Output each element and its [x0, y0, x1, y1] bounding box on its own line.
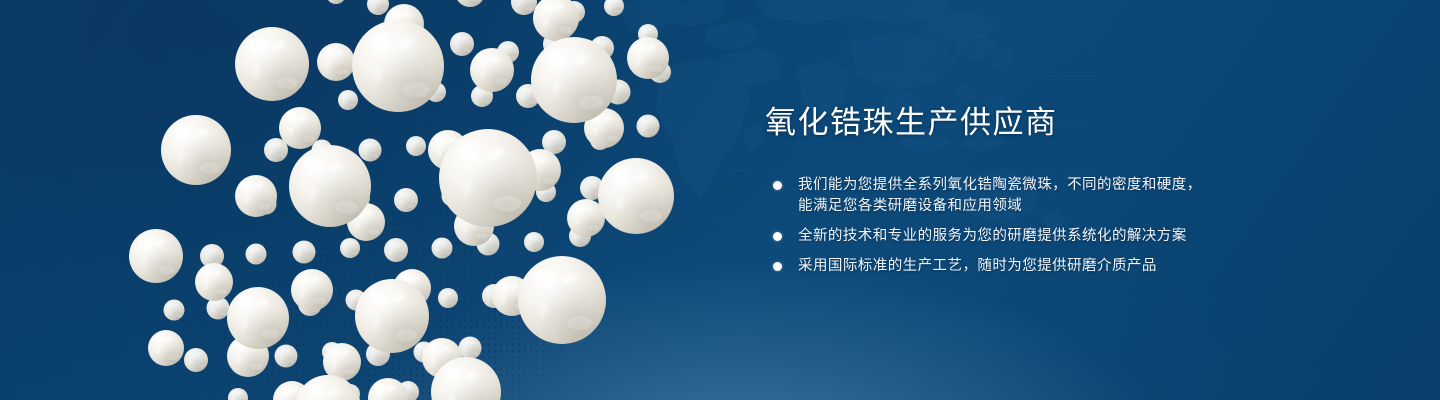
list-item-line: 能满足您各类研磨设备和应用领域 — [798, 196, 1365, 217]
zirconia-beads-image — [0, 0, 760, 400]
page-title: 氧化锆珠生产供应商 — [765, 106, 1365, 141]
hero-banner: 氧化锆珠生产供应商 我们能为您提供全系列氧化锆陶瓷微珠，不同的密度和硬度， 能满… — [0, 0, 1440, 400]
bullet-dot-icon — [773, 232, 782, 241]
banner-copy: 氧化锆珠生产供应商 我们能为您提供全系列氧化锆陶瓷微珠，不同的密度和硬度， 能满… — [765, 106, 1365, 277]
bullet-dot-icon — [773, 181, 782, 190]
halftone-texture-upper — [300, 0, 720, 190]
feature-list: 我们能为您提供全系列氧化锆陶瓷微珠，不同的密度和硬度， 能满足您各类研磨设备和应… — [765, 175, 1365, 277]
bullet-dot-icon — [773, 262, 782, 271]
list-item-line: 采用国际标准的生产工艺，随时为您提供研磨介质产品 — [798, 256, 1365, 277]
list-item: 采用国际标准的生产工艺，随时为您提供研磨介质产品 — [765, 256, 1365, 277]
halftone-texture — [96, 150, 566, 400]
list-item: 全新的技术和专业的服务为您的研磨提供系统化的解决方案 — [765, 226, 1365, 247]
list-item: 我们能为您提供全系列氧化锆陶瓷微珠，不同的密度和硬度， 能满足您各类研磨设备和应… — [765, 175, 1365, 217]
list-item-line: 全新的技术和专业的服务为您的研磨提供系统化的解决方案 — [798, 226, 1365, 247]
list-item-line: 我们能为您提供全系列氧化锆陶瓷微珠，不同的密度和硬度， — [798, 175, 1365, 196]
